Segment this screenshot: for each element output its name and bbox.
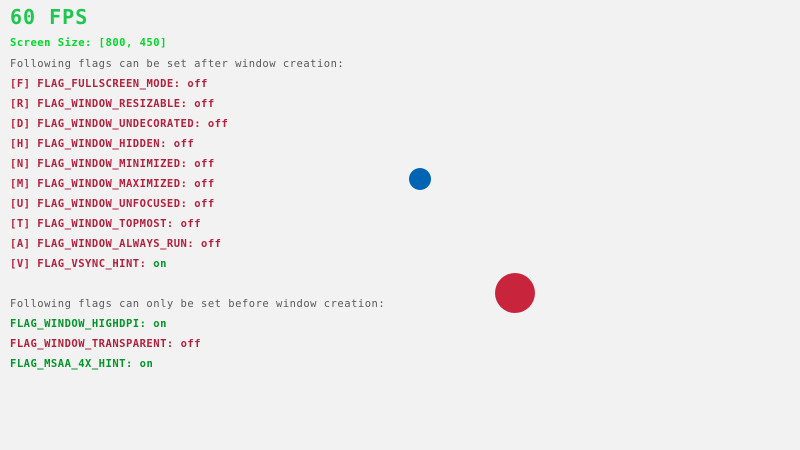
flag-row-window-unfocused[interactable]: [U] FLAG_WINDOW_UNFOCUSED: off [10,199,215,210]
flag-value: off [181,218,201,230]
flag-key: [N] [10,158,30,170]
flag-value: off [201,238,221,250]
flag-row-window-undecorated[interactable]: [D] FLAG_WINDOW_UNDECORATED: off [10,119,228,130]
flag-row-vsync-hint[interactable]: [V] FLAG_VSYNC_HINT: on [10,259,167,270]
screen-size-label: Screen Size: [800, 450] [10,38,167,49]
flag-value: off [194,158,214,170]
flag-key: [U] [10,198,30,210]
flag-key: [D] [10,118,30,130]
flag-row-window-resizable[interactable]: [R] FLAG_WINDOW_RESIZABLE: off [10,99,215,110]
flag-row-window-minimized[interactable]: [N] FLAG_WINDOW_MINIMIZED: off [10,159,215,170]
flag-row-window-maximized[interactable]: [M] FLAG_WINDOW_MAXIMIZED: off [10,179,215,190]
section-heading-after-creation: Following flags can be set after window … [10,59,344,70]
flag-name: FLAG_WINDOW_MAXIMIZED [37,178,180,190]
flag-value: on [153,318,167,330]
bouncing-ball-blue [409,168,431,190]
flag-key: [T] [10,218,30,230]
flag-value: off [194,178,214,190]
section-heading-before-creation: Following flags can only be set before w… [10,299,385,310]
flag-key: [M] [10,178,30,190]
flag-key: [V] [10,258,30,270]
flag-name: FLAG_WINDOW_ALWAYS_RUN [37,238,187,250]
flag-name: FLAG_MSAA_4X_HINT [10,358,126,370]
flag-name: FLAG_WINDOW_HIDDEN [37,138,160,150]
flag-name: FLAG_FULLSCREEN_MODE [37,78,173,90]
flag-value: off [194,98,214,110]
flag-row-fullscreen-mode[interactable]: [F] FLAG_FULLSCREEN_MODE: off [10,79,208,90]
flag-value: off [174,138,194,150]
flag-row-window-always-run[interactable]: [A] FLAG_WINDOW_ALWAYS_RUN: off [10,239,222,250]
flag-row-window-hidden[interactable]: [H] FLAG_WINDOW_HIDDEN: off [10,139,194,150]
flag-name: FLAG_WINDOW_MINIMIZED [37,158,180,170]
flag-key: [H] [10,138,30,150]
flag-value: off [187,78,207,90]
flag-name: FLAG_WINDOW_RESIZABLE [37,98,180,110]
flag-name: FLAG_WINDOW_UNDECORATED [37,118,194,130]
flag-name: FLAG_WINDOW_TRANSPARENT [10,338,167,350]
flag-name: FLAG_WINDOW_TOPMOST [37,218,167,230]
flag-row-window-topmost[interactable]: [T] FLAG_WINDOW_TOPMOST: off [10,219,201,230]
flag-row-msaa-4x-hint: FLAG_MSAA_4X_HINT: on [10,359,153,370]
fps-counter: 60 FPS [10,7,88,27]
flag-value: off [208,118,228,130]
flag-name: FLAG_WINDOW_UNFOCUSED [37,198,180,210]
flag-value: on [140,358,154,370]
raylib-window-canvas[interactable]: 60 FPS Screen Size: [800, 450] Following… [0,0,800,450]
flag-value: off [194,198,214,210]
bouncing-ball-red [495,273,535,313]
flag-key: [A] [10,238,30,250]
flag-key: [F] [10,78,30,90]
flag-key: [R] [10,98,30,110]
flag-row-window-highdpi: FLAG_WINDOW_HIGHDPI: on [10,319,167,330]
flag-name: FLAG_VSYNC_HINT [37,258,139,270]
flag-row-window-transparent: FLAG_WINDOW_TRANSPARENT: off [10,339,201,350]
flag-name: FLAG_WINDOW_HIGHDPI [10,318,140,330]
flag-value: off [181,338,201,350]
flag-value: on [153,258,167,270]
